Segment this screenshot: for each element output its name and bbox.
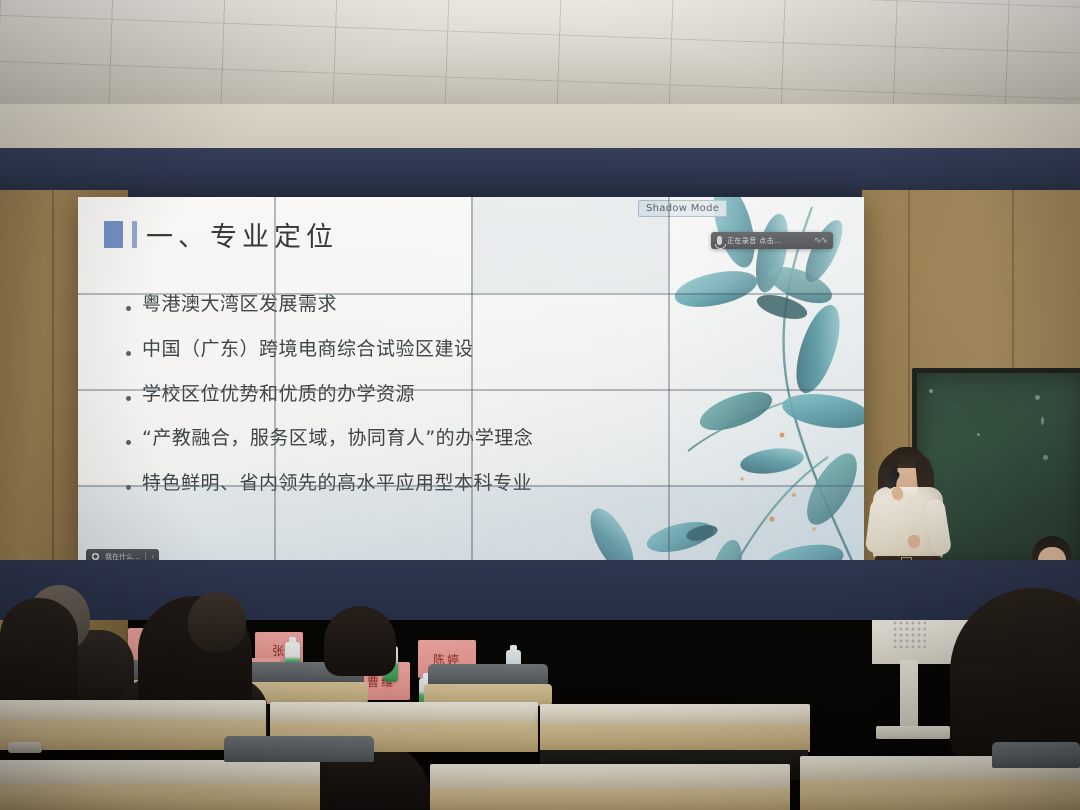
desk-front-panel	[430, 788, 790, 810]
bullet-item: 粤港澳大湾区发展需求	[126, 293, 726, 317]
desk-surface	[0, 760, 320, 786]
bullet-dot-icon	[126, 306, 131, 311]
title-marker-wide-icon	[104, 221, 123, 248]
audience-head	[324, 606, 396, 676]
presenter-hand-right	[908, 535, 920, 548]
waveform-icon: ∿∿	[814, 236, 827, 246]
desk-front-panel	[0, 784, 320, 810]
slide-bullet-list: 粤港澳大湾区发展需求 中国（广东）跨境电商综合试验区建设 学校区位优势和优质的办…	[126, 293, 726, 517]
bullet-item: 中国（广东）跨境电商综合试验区建设	[126, 338, 726, 362]
title-marker-thin-icon	[132, 221, 137, 248]
desk-surface	[540, 704, 810, 726]
ceiling-shading	[0, 0, 1080, 108]
bullet-item: 特色鲜明、省内领先的高水平应用型本科专业	[126, 472, 726, 496]
bullet-dot-icon	[126, 351, 131, 356]
voice-bar-text: 正在录音 点击…	[727, 236, 781, 246]
desk-front-panel	[540, 724, 810, 752]
seat-back	[992, 742, 1080, 768]
audience-head	[188, 592, 246, 652]
seat-back	[224, 736, 374, 762]
slide-title-row: 一、专业定位	[104, 215, 338, 254]
podium-base	[876, 726, 950, 739]
seat-back	[428, 664, 548, 686]
desk-surface	[0, 700, 266, 722]
podium-leg	[900, 660, 918, 732]
bullet-dot-icon	[126, 440, 131, 445]
slide-title-text: 一、专业定位	[146, 215, 338, 254]
phone-on-desk	[8, 742, 42, 753]
video-wall[interactable]: 一、专业定位 粤港澳大湾区发展需求 中国（广东）跨境电商综合试验区建设 学校区位…	[78, 197, 864, 579]
shadow-mode-label: Shadow Mode	[638, 200, 727, 217]
presentation-slide: 一、专业定位 粤港澳大湾区发展需求 中国（广东）跨境电商综合试验区建设 学校区位…	[78, 197, 864, 579]
bullet-text: “产教融合，服务区域，协同育人”的办学理念	[142, 427, 533, 451]
bullet-item: 学校区位优势和优质的办学资源	[126, 383, 726, 407]
bullet-dot-icon	[126, 396, 131, 401]
name-card-text: 张	[272, 642, 286, 659]
bullet-text: 特色鲜明、省内领先的高水平应用型本科专业	[142, 472, 532, 496]
ceiling	[0, 0, 1080, 108]
bullet-text: 粤港澳大湾区发展需求	[142, 293, 337, 317]
bullet-text: 中国（广东）跨境电商综合试验区建设	[142, 338, 474, 362]
desk-surface	[270, 702, 538, 724]
bullet-dot-icon	[126, 485, 131, 490]
microphone-icon	[717, 236, 722, 245]
lecture-hall-photo: 一、专业定位 粤港澳大湾区发展需求 中国（广东）跨境电商综合试验区建设 学校区位…	[0, 0, 1080, 810]
bullet-item: “产教融合，服务区域，协同育人”的办学理念	[126, 427, 726, 451]
desk-surface	[430, 764, 790, 790]
voice-recording-bar[interactable]: 正在录音 点击… ∿∿	[711, 232, 833, 249]
desk-front-panel	[800, 780, 1080, 810]
bullet-text: 学校区位优势和优质的办学资源	[142, 383, 415, 407]
